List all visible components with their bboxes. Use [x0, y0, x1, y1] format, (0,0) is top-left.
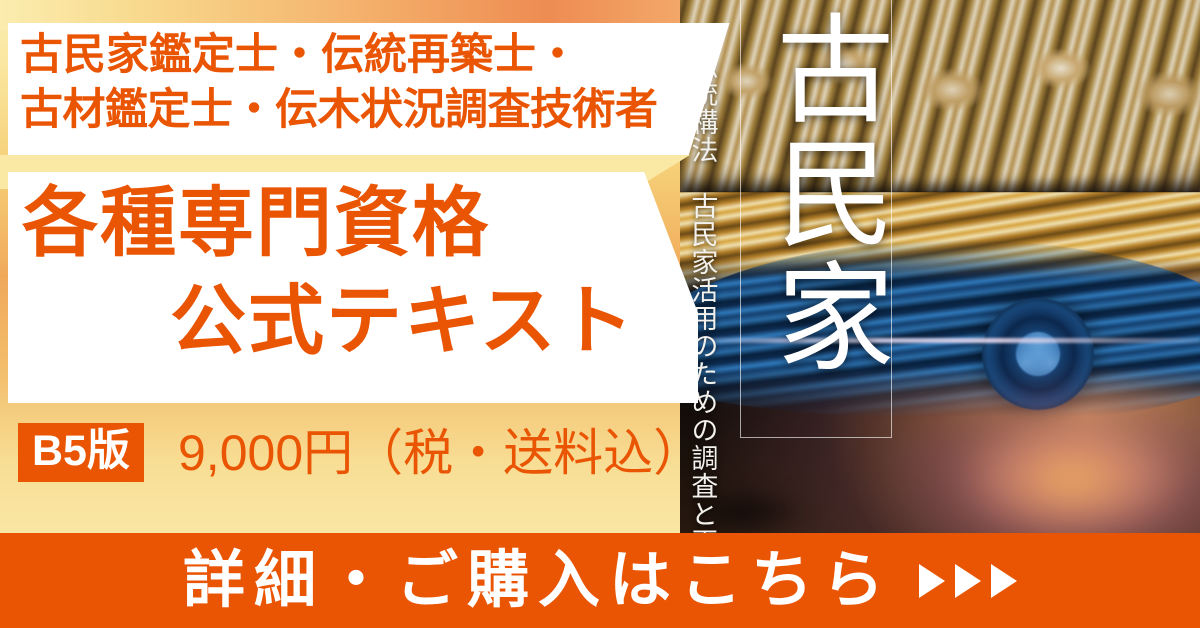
- headline-line-1: 古民家鑑定士・伝統再築士・: [20, 28, 720, 83]
- cta-label: 詳細・ご購入はこちら: [183, 550, 893, 612]
- promo-banner: 古民家 伝統構法 古民家活用のための調査と再生の 古民家鑑定士・伝統再築士・ 古…: [0, 0, 1200, 628]
- title-line-2: 公式テキスト: [170, 284, 636, 360]
- cta-bar[interactable]: 詳細・ご購入はこちら: [0, 533, 1200, 628]
- triangle-right-icon: [955, 564, 981, 598]
- triangle-right-icon: [919, 564, 945, 598]
- title-line-1: 各種専門資格: [22, 186, 490, 262]
- triangle-right-icon: [991, 564, 1017, 598]
- headline-text: 古民家鑑定士・伝統再築士・ 古材鑑定士・伝木状況調査技術者: [20, 28, 720, 138]
- price-text: 9,000円（税・送料込）: [178, 428, 703, 478]
- headline-line-2: 古材鑑定士・伝木状況調査技術者: [20, 83, 720, 138]
- cover-title: 古民家: [742, 8, 890, 380]
- book-cover-photo: 古民家 伝統構法 古民家活用のための調査と再生の: [680, 0, 1200, 533]
- cta-arrows: [919, 564, 1017, 598]
- size-badge: B5版: [18, 423, 144, 482]
